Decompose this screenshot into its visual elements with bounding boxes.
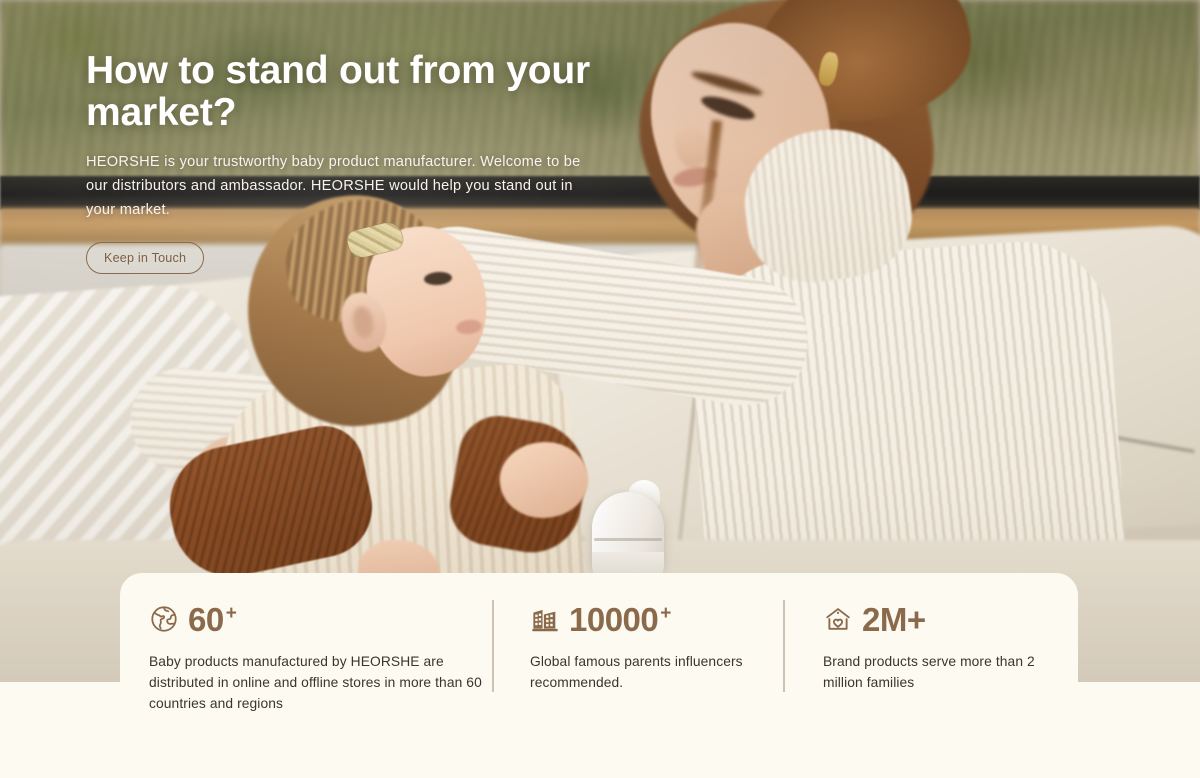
stat-number-suffix: +	[660, 604, 671, 623]
stat-heading: 2M+	[823, 598, 1078, 640]
globe-icon	[149, 604, 179, 634]
stat-item-influencers: 10000+ Global famous parents influencers…	[492, 573, 783, 725]
stat-description: Baby products manufactured by HEORSHE ar…	[149, 652, 492, 715]
stat-number-suffix: +	[226, 604, 237, 623]
house-heart-icon	[823, 604, 853, 634]
stat-item-families: 2M+ Brand products serve more than 2 mil…	[783, 573, 1078, 725]
baby-bottle-seam	[594, 538, 662, 541]
buildings-icon	[530, 604, 560, 634]
stat-heading: 60+	[149, 598, 492, 640]
stat-number-suffix: +	[907, 603, 926, 636]
stat-number-value: 2M	[862, 603, 907, 636]
hero-copy: How to stand out from your market? HEORS…	[86, 50, 646, 274]
page-title: How to stand out from your market?	[86, 50, 646, 134]
stat-item-countries: 60+ Baby products manufactured by HEORSH…	[120, 573, 492, 725]
stat-number: 60+	[188, 603, 236, 636]
hero-subtitle: HEORSHE is your trustworthy baby product…	[86, 151, 604, 222]
stat-number-value: 60	[188, 603, 224, 636]
stat-number: 10000+	[569, 603, 671, 636]
stat-number-value: 10000	[569, 603, 658, 636]
stat-description: Brand products serve more than 2 million…	[823, 652, 1078, 694]
stat-description: Global famous parents influencers recomm…	[530, 652, 783, 694]
stats-card: 60+ Baby products manufactured by HEORSH…	[120, 573, 1078, 725]
keep-in-touch-button[interactable]: Keep in Touch	[86, 242, 204, 274]
stat-heading: 10000+	[530, 598, 783, 640]
stat-number: 2M+	[862, 603, 926, 636]
